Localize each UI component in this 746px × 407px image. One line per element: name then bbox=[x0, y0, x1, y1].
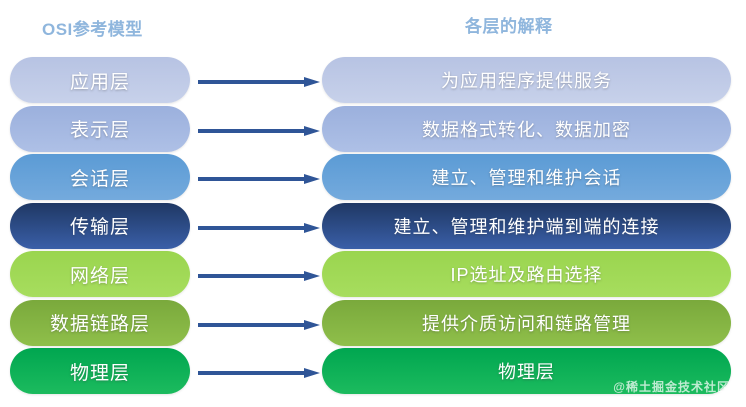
arrow-shaft bbox=[198, 323, 306, 327]
layer-name-label: 应用层 bbox=[70, 67, 130, 94]
layer-row: 表示层数据格式转化、数据加密 bbox=[0, 106, 746, 152]
layer-description-pill[interactable]: 建立、管理和维护端到端的连接 bbox=[322, 203, 731, 249]
arrow-right-icon bbox=[198, 126, 324, 136]
layer-name-label: 表示层 bbox=[70, 115, 130, 142]
arrow-right-icon bbox=[198, 320, 324, 330]
layer-row: 应用层为应用程序提供服务 bbox=[0, 57, 746, 103]
arrow-head bbox=[304, 77, 320, 87]
layer-name-label: 数据链路层 bbox=[50, 309, 150, 336]
layer-description-label: 数据格式转化、数据加密 bbox=[422, 116, 631, 142]
layer-name-pill[interactable]: 传输层 bbox=[10, 203, 190, 249]
layer-name-pill[interactable]: 数据链路层 bbox=[10, 300, 190, 346]
column-title-layer-explanation: 各层的解释 bbox=[465, 12, 553, 37]
layer-row: 会话层建立、管理和维护会话 bbox=[0, 154, 746, 200]
layer-name-label: 会话层 bbox=[70, 164, 130, 191]
layer-description-pill[interactable]: 为应用程序提供服务 bbox=[322, 57, 731, 103]
arrow-shaft bbox=[198, 371, 306, 375]
layer-name-label: 网络层 bbox=[70, 261, 130, 288]
arrow-head bbox=[304, 368, 320, 378]
layer-name-pill[interactable]: 表示层 bbox=[10, 106, 190, 152]
layer-description-label: 物理层 bbox=[498, 358, 555, 384]
layer-description-pill[interactable]: 数据格式转化、数据加密 bbox=[322, 106, 731, 152]
arrow-right-icon bbox=[198, 368, 324, 378]
arrow-right-icon bbox=[198, 174, 324, 184]
arrow-head bbox=[304, 271, 320, 281]
arrow-shaft bbox=[198, 80, 306, 84]
layer-name-pill[interactable]: 会话层 bbox=[10, 154, 190, 200]
layer-row: 网络层IP选址及路由选择 bbox=[0, 251, 746, 297]
layer-description-label: 提供介质访问和链路管理 bbox=[422, 310, 631, 336]
layer-name-pill[interactable]: 应用层 bbox=[10, 57, 190, 103]
layer-name-label: 物理层 bbox=[70, 358, 130, 385]
arrow-shaft bbox=[198, 226, 306, 230]
layer-name-label: 传输层 bbox=[70, 212, 130, 239]
arrow-right-icon bbox=[198, 223, 324, 233]
arrow-shaft bbox=[198, 129, 306, 133]
arrow-shaft bbox=[198, 274, 306, 278]
layer-row: 数据链路层提供介质访问和链路管理 bbox=[0, 300, 746, 346]
column-title-osi-model: OSI参考模型 bbox=[42, 15, 143, 40]
layer-description-pill[interactable]: 建立、管理和维护会话 bbox=[322, 154, 731, 200]
layer-name-pill[interactable]: 物理层 bbox=[10, 348, 190, 394]
layer-name-pill[interactable]: 网络层 bbox=[10, 251, 190, 297]
osi-model-diagram: OSI参考模型 各层的解释 应用层为应用程序提供服务表示层数据格式转化、数据加密… bbox=[0, 0, 746, 407]
arrow-head bbox=[304, 223, 320, 233]
layer-description-pill[interactable]: IP选址及路由选择 bbox=[322, 251, 731, 297]
arrow-shaft bbox=[198, 177, 306, 181]
layer-description-pill[interactable]: 提供介质访问和链路管理 bbox=[322, 300, 731, 346]
watermark-label: @稀土掘金技术社区 bbox=[613, 378, 730, 395]
layer-row: 传输层建立、管理和维护端到端的连接 bbox=[0, 203, 746, 249]
arrow-head bbox=[304, 320, 320, 330]
layer-description-label: 建立、管理和维护会话 bbox=[432, 164, 622, 190]
arrow-head bbox=[304, 174, 320, 184]
layer-description-label: 建立、管理和维护端到端的连接 bbox=[394, 213, 660, 239]
layer-description-label: IP选址及路由选择 bbox=[450, 261, 602, 287]
arrow-right-icon bbox=[198, 271, 324, 281]
arrow-head bbox=[304, 126, 320, 136]
layer-description-label: 为应用程序提供服务 bbox=[441, 67, 612, 93]
arrow-right-icon bbox=[198, 77, 324, 87]
